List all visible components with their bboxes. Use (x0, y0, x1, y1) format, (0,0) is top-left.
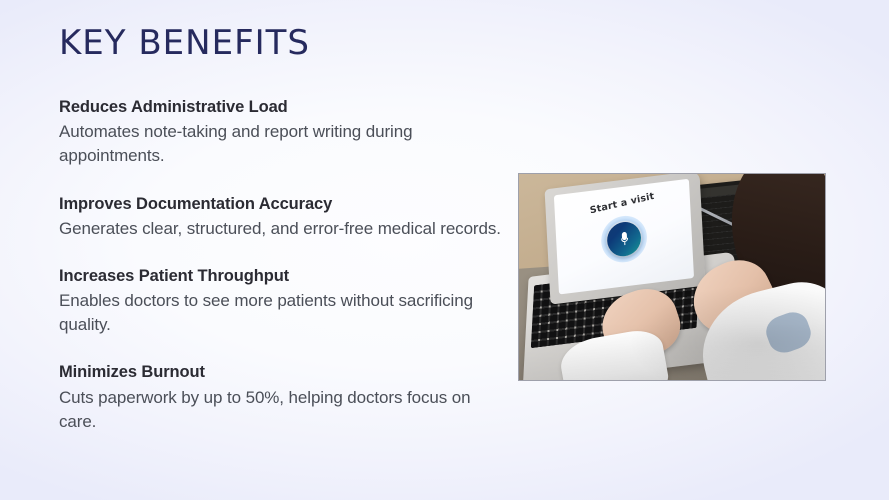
page-title: KEY BENEFITS (59, 25, 310, 62)
mic-stem (623, 242, 624, 245)
benefit-description: Enables doctors to see more patients wit… (59, 289, 511, 337)
mic-glyph (620, 232, 628, 246)
list-item: Minimizes Burnout Cuts paperwork by up t… (59, 361, 511, 434)
benefits-list: Reduces Administrative Load Automates no… (59, 96, 511, 434)
benefit-description: Cuts paperwork by up to 50%, helping doc… (59, 386, 511, 434)
benefit-heading: Increases Patient Throughput (59, 265, 511, 287)
list-item: Reduces Administrative Load Automates no… (59, 96, 511, 169)
benefit-heading: Improves Documentation Accuracy (59, 193, 511, 215)
doctor-laptop-photo: Start a visit (519, 174, 825, 380)
benefit-heading: Reduces Administrative Load (59, 96, 511, 118)
laptop-lid: Start a visit (544, 174, 705, 305)
benefit-description: Generates clear, structured, and error-f… (59, 217, 511, 241)
list-item: Improves Documentation Accuracy Generate… (59, 193, 511, 241)
slide: KEY BENEFITS Reduces Administrative Load… (0, 0, 889, 500)
list-item: Increases Patient Throughput Enables doc… (59, 265, 511, 338)
laptop-screen: Start a visit (554, 179, 694, 295)
benefit-description: Automates note-taking and report writing… (59, 120, 511, 168)
photo-frame: Start a visit (518, 173, 826, 381)
benefit-heading: Minimizes Burnout (59, 361, 511, 383)
